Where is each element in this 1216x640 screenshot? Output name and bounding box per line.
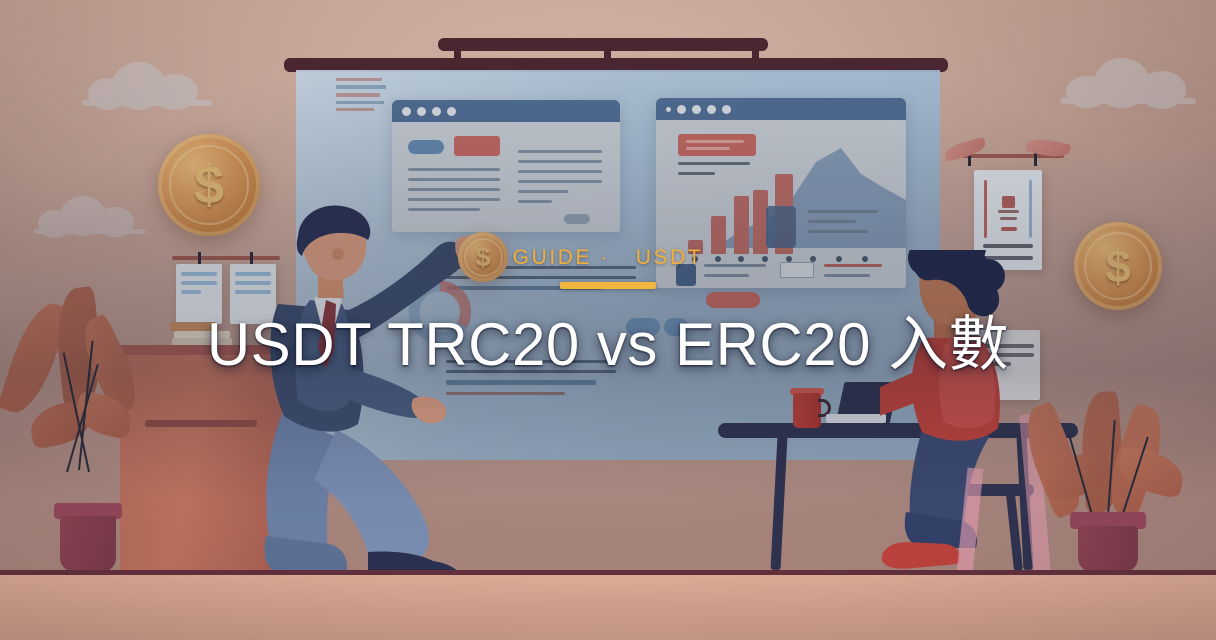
hero-text-block: GUIDE · USDT USDT TRC20 vs ERC20 入數: [0, 246, 1216, 378]
pot-left: [60, 516, 116, 572]
window-dot: [692, 105, 701, 114]
hero-banner: $ $: [0, 0, 1216, 640]
floor: [0, 575, 1216, 640]
window-dot: [677, 105, 686, 114]
overline-kicker: GUIDE: [513, 246, 593, 270]
browser-titlebar-left: [392, 100, 620, 122]
notebook: [826, 414, 886, 423]
overline-tag: USDT: [636, 246, 704, 270]
window-dot: [432, 107, 441, 116]
screen-mount-upper: [438, 38, 768, 51]
screen-side-lines: [808, 210, 878, 240]
red-banner: [454, 136, 500, 156]
window-dot: [447, 107, 456, 116]
window-dot: [402, 107, 411, 116]
toggle-pill: [408, 140, 444, 154]
overline: GUIDE · USDT: [513, 246, 704, 270]
coffee-cup: [793, 393, 821, 428]
window-dot: [666, 107, 671, 112]
window-dot: [707, 105, 716, 114]
pot-right: [1078, 526, 1138, 572]
window-dot: [417, 107, 426, 116]
screen-side-card: [766, 206, 796, 248]
window-dot: [722, 105, 731, 114]
accent-rule: [560, 282, 656, 289]
page-title: USDT TRC20 vs ERC20 入數: [207, 311, 1009, 378]
cloud-mid-left: [34, 196, 146, 232]
browser-titlebar-right: [656, 98, 906, 120]
small-toggle: [564, 214, 590, 224]
screen-annotation-block: [336, 78, 390, 120]
cloud-top-right: [1060, 58, 1196, 102]
overline-separator: ·: [600, 246, 610, 270]
cloud-top-left: [82, 62, 212, 104]
